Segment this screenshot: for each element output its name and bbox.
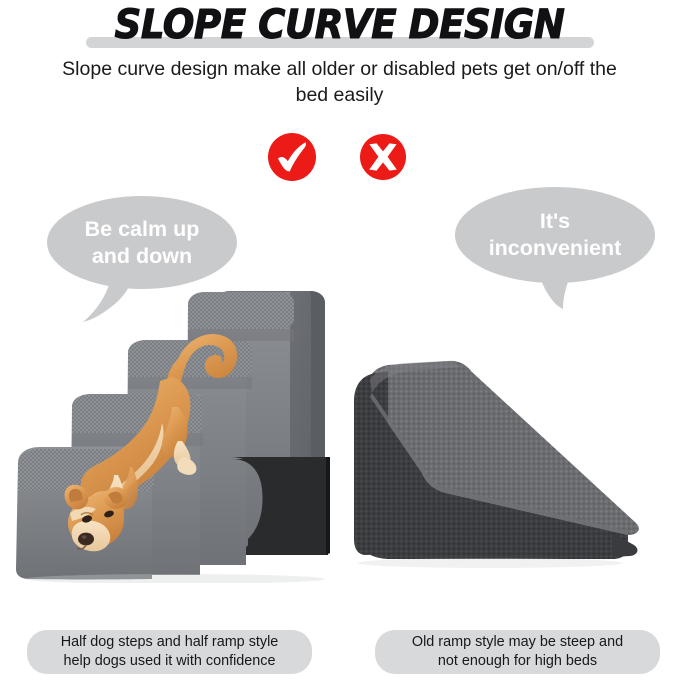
speech-bubble-positive: Be calm up and down [47, 196, 237, 289]
cross-icon [367, 142, 399, 172]
foam-wedge-illustration [350, 355, 642, 577]
dog-illustration [60, 315, 260, 555]
approved-badge [268, 133, 316, 181]
page-subtitle: Slope curve design make all older or dis… [50, 56, 629, 108]
infographic-page: SLOPE CURVE DESIGN Slope curve design ma… [0, 0, 679, 681]
caption-right: Old ramp style may be steep and not enou… [375, 630, 660, 674]
page-title: SLOPE CURVE DESIGN [24, 2, 655, 48]
check-icon [275, 141, 309, 173]
speech-bubble-negative: It's inconvenient [455, 187, 655, 283]
caption-left: Half dog steps and half ramp style help … [27, 630, 312, 674]
dog-descending-stairs [60, 315, 260, 555]
bubble-label-left: Be calm up and down [47, 196, 237, 289]
bubble-label-right: It's inconvenient [455, 187, 655, 283]
rejected-badge [360, 134, 406, 180]
product-foam-ramp-wedge [350, 355, 642, 577]
